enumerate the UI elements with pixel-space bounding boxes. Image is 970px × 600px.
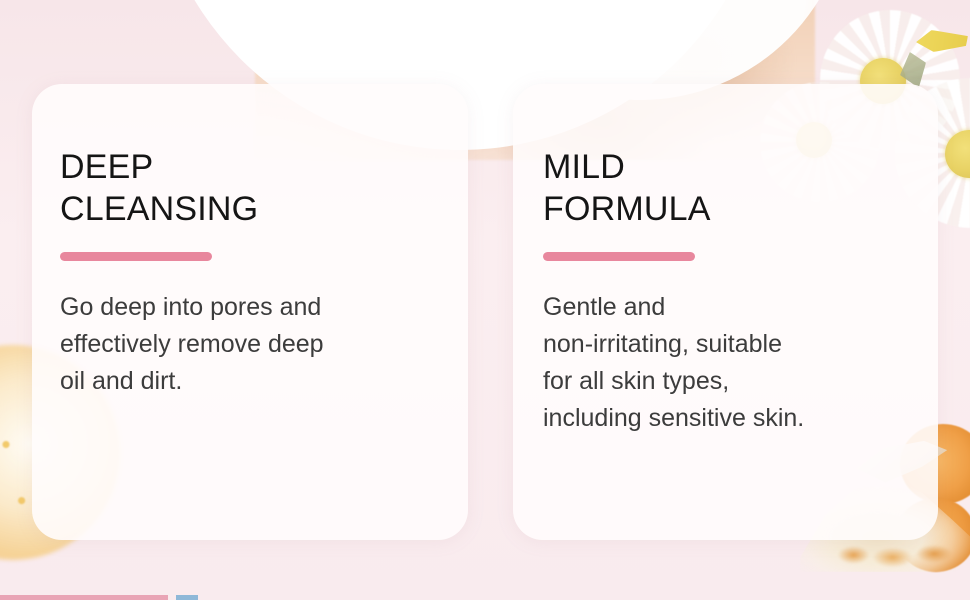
feature-card-content: MILD FORMULA Gentle and non-irritating, … [543, 146, 918, 437]
bottom-edge-bar [0, 595, 168, 600]
feature-card-title: MILD FORMULA [543, 146, 918, 230]
feature-card-body-text: Gentle and non-irritating, suitable for … [543, 289, 918, 437]
title-divider-bar [543, 252, 695, 261]
feature-card-body-text: Go deep into pores and effectively remov… [60, 289, 448, 400]
feature-card-mild-formula: MILD FORMULA Gentle and non-irritating, … [513, 84, 938, 540]
feature-card-title: DEEP CLEANSING [60, 146, 448, 230]
bottom-edge-chip [176, 595, 198, 600]
infographic-canvas: DEEP CLEANSING Go deep into pores and ef… [0, 0, 970, 600]
feature-card-deep-cleansing: DEEP CLEANSING Go deep into pores and ef… [32, 84, 468, 540]
title-divider-bar [60, 252, 212, 261]
orange-crumbs [838, 540, 968, 570]
feature-card-content: DEEP CLEANSING Go deep into pores and ef… [60, 146, 448, 400]
